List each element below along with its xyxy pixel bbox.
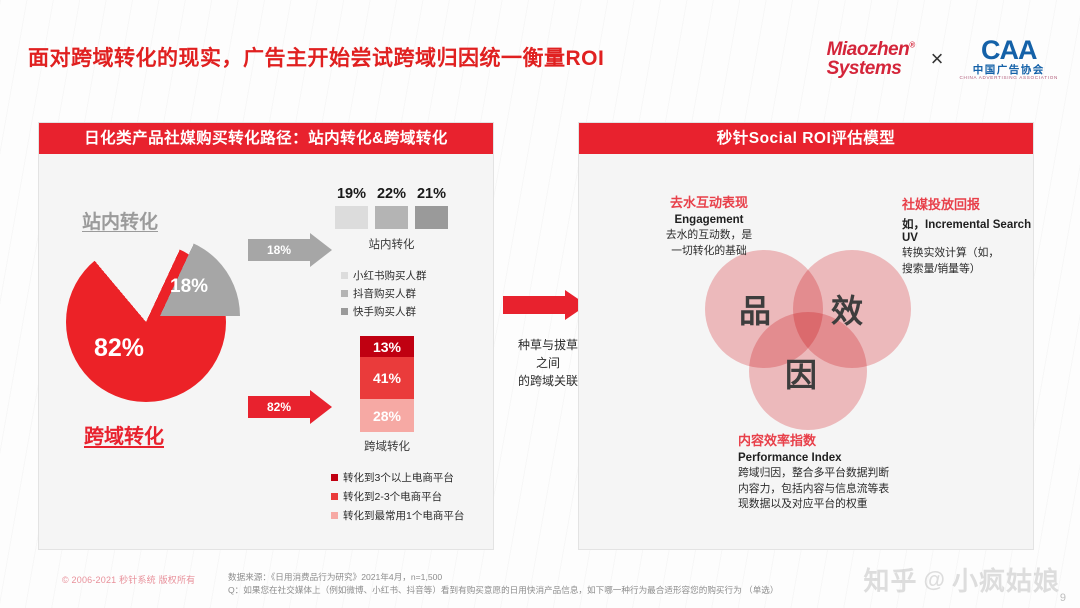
legend-swatch-icon xyxy=(331,493,338,500)
venn-label-bottom: 因 xyxy=(785,350,817,396)
block-social-roi-english: 如，Incremental Search UV xyxy=(902,216,1038,244)
crossdomain-legend: 转化到3个以上电商平台转化到2-3个电商平台转化到最常用1个电商平台 xyxy=(331,470,464,527)
block-social-roi: 社媒投放回报 如，Incremental Search UV 转换实效计算（如，… xyxy=(902,194,1038,277)
label-instation-conversion: 站内转化 xyxy=(82,207,158,234)
pie-value-crossdomain: 82% xyxy=(94,334,144,363)
copyright-text: © 2006-2021 秒针系统 版权所有 xyxy=(62,573,195,586)
miaozhen-logo: Miaozhen® Systems xyxy=(827,40,915,78)
stacked-bar-segment: 28% xyxy=(360,399,414,432)
slide-root: 面对跨域转化的现实，广告主开始尝试跨域归因统一衡量ROI Miaozhen® S… xyxy=(0,0,1080,608)
block-performance-index-english: Performance Index xyxy=(738,452,968,464)
legend-swatch-icon xyxy=(331,512,338,519)
stacked-bar-value: 28% xyxy=(360,409,414,423)
legend-swatch-icon xyxy=(341,290,348,297)
source-note-line2: Q：如果您在社交媒体上（例如微博、小红书、抖音等）看到有购买意愿的日用快消产品信… xyxy=(228,584,778,597)
conversion-pie-chart: 82% 18% xyxy=(66,236,236,406)
instation-bar-values: 19%22%21% xyxy=(335,186,448,202)
page-number: 9 xyxy=(1060,592,1066,604)
legend-item: 小红书购买人群 xyxy=(341,268,427,283)
source-note-line1: 数据来源：《日用消费品行为研究》2021年4月，n=1,500 xyxy=(228,571,778,584)
registered-trademark-icon: ® xyxy=(909,40,914,49)
block-engagement-heading: 去水互动表现 xyxy=(634,192,784,211)
instation-bar-value: 19% xyxy=(335,186,368,202)
instation-legend: 小红书购买人群抖音购买人群快手购买人群 xyxy=(341,268,427,322)
legend-item: 抖音购买人群 xyxy=(341,286,427,301)
block-performance-index-desc: 跨域归因，整合多平台数据判断内容力，包括内容与信息流等表现数据以及对应平台的权重 xyxy=(738,466,968,513)
arrow-crossdomain-head-icon xyxy=(310,390,332,424)
watermark: 知乎 @ 小疯姑娘 xyxy=(864,561,1060,598)
watermark-brand: 知乎 xyxy=(864,561,918,598)
legend-item: 快手购买人群 xyxy=(341,304,427,319)
transition-arrow xyxy=(503,290,587,320)
instation-bar-segment xyxy=(415,206,448,229)
legend-label: 转化到3个以上电商平台 xyxy=(343,470,454,485)
crossdomain-bar-caption: 跨域转化 xyxy=(360,438,414,454)
arrow-crossdomain-label: 82% xyxy=(248,396,310,418)
pie-slice-instation xyxy=(80,236,240,396)
label-crossdomain-conversion: 跨域转化 xyxy=(84,420,164,449)
legend-swatch-icon xyxy=(341,308,348,315)
arrow-instation-label: 18% xyxy=(248,239,310,261)
block-performance-index: 内容效率指数 Performance Index 跨域归因，整合多平台数据判断内… xyxy=(738,430,968,513)
instation-bar-value: 21% xyxy=(415,186,448,202)
crossdomain-stacked-segments: 13%41%28% xyxy=(360,336,414,432)
venn-label-left: 品 xyxy=(739,286,771,332)
left-panel-header: 日化类产品社媒购买转化路径：站内转化&跨域转化 xyxy=(39,123,493,154)
venn-label-right: 效 xyxy=(831,286,863,332)
block-social-roi-desc: 转换实效计算（如，搜索量/销量等） xyxy=(902,246,1038,277)
miaozhen-logo-line1: Miaozhen® xyxy=(827,40,915,59)
block-engagement-english: Engagement xyxy=(634,214,784,226)
legend-label: 转化到2-3个电商平台 xyxy=(343,489,442,504)
legend-item: 转化到2-3个电商平台 xyxy=(331,489,464,504)
crossdomain-stacked-bar: 13%41%28% 跨域转化 xyxy=(360,336,414,454)
logo-block: Miaozhen® Systems × CAA 中国广告协会 CHINA ADV… xyxy=(827,36,1058,81)
legend-item: 转化到3个以上电商平台 xyxy=(331,470,464,485)
legend-label: 转化到最常用1个电商平台 xyxy=(343,508,464,523)
instation-bar-chart: 19%22%21% 站内转化 xyxy=(335,186,448,252)
instation-bar-segment xyxy=(335,206,368,229)
stacked-bar-segment: 13% xyxy=(360,336,414,357)
legend-label: 抖音购买人群 xyxy=(353,286,416,301)
caa-logo-main: CAA xyxy=(960,36,1059,64)
caa-logo: CAA 中国广告协会 CHINA ADVERTISING ASSOCIATION xyxy=(960,36,1059,81)
instation-bar-segment xyxy=(375,206,408,229)
legend-label: 小红书购买人群 xyxy=(353,268,427,283)
legend-swatch-icon xyxy=(331,474,338,481)
page-title: 面对跨域转化的现实，广告主开始尝试跨域归因统一衡量ROI xyxy=(28,42,604,72)
block-performance-index-heading: 内容效率指数 xyxy=(738,430,968,449)
right-panel-header: 秒针Social ROI评估模型 xyxy=(579,123,1033,154)
legend-item: 转化到最常用1个电商平台 xyxy=(331,508,464,523)
legend-label: 快手购买人群 xyxy=(353,304,416,319)
block-engagement-desc: 去水的互动数，是一切转化的基础 xyxy=(634,228,784,259)
logo-cross-icon: × xyxy=(931,46,944,72)
venn-diagram: 品 效 因 xyxy=(705,250,915,435)
instation-bar-bars xyxy=(335,206,448,229)
transition-arrow-shaft xyxy=(503,296,565,314)
arrow-crossdomain: 82% xyxy=(248,390,332,424)
stacked-bar-segment: 41% xyxy=(360,357,414,399)
instation-bar-caption: 站内转化 xyxy=(335,236,448,252)
source-note: 数据来源：《日用消费品行为研究》2021年4月，n=1,500 Q：如果您在社交… xyxy=(228,571,778,598)
arrow-instation: 18% xyxy=(248,233,332,267)
instation-bar-value: 22% xyxy=(375,186,408,202)
miaozhen-logo-line2: Systems xyxy=(827,59,915,78)
pie-value-instation: 18% xyxy=(170,276,208,298)
arrow-instation-head-icon xyxy=(310,233,332,267)
stacked-bar-value: 13% xyxy=(360,340,414,354)
block-engagement: 去水互动表现 Engagement 去水的互动数，是一切转化的基础 xyxy=(634,192,784,259)
stacked-bar-value: 41% xyxy=(360,371,414,385)
legend-swatch-icon xyxy=(341,272,348,279)
block-social-roi-heading: 社媒投放回报 xyxy=(902,194,1038,213)
watermark-user: 小疯姑娘 xyxy=(952,561,1060,598)
watermark-at-icon: @ xyxy=(924,567,946,593)
caa-logo-english: CHINA ADVERTISING ASSOCIATION xyxy=(960,76,1059,81)
